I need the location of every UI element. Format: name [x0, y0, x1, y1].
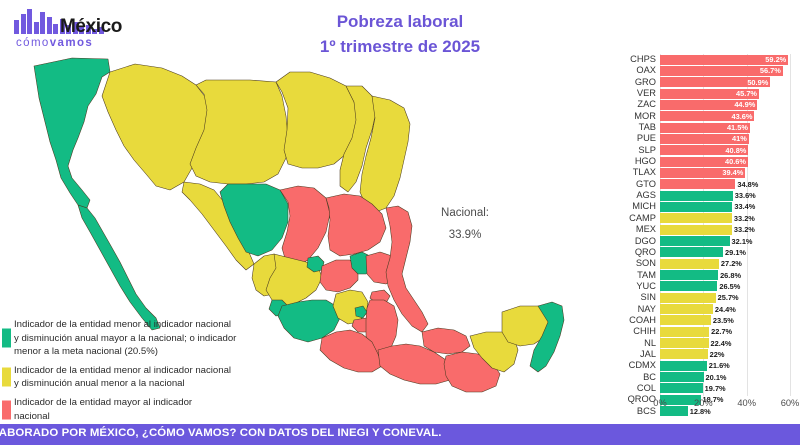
chart-category-label: AGS — [600, 190, 656, 201]
chart-category-label: TAB — [600, 122, 656, 133]
map-state-bcn[interactable] — [34, 58, 110, 208]
chart-bar-value: 27.2% — [721, 258, 742, 269]
national-label: Nacional: — [410, 203, 520, 225]
chart-category-label: DGO — [600, 236, 656, 247]
chart-bar[interactable] — [660, 259, 719, 269]
chart-bar-value: 40.6% — [725, 156, 746, 167]
chart-x-axis: 0%20%40%60% — [660, 398, 800, 414]
chart-bar-row[interactable]: GTO34.8% — [600, 179, 800, 190]
legend-item: Indicador de la entidad menor al indicad… — [0, 318, 250, 359]
chart-bar[interactable] — [660, 236, 730, 246]
chart-bar[interactable] — [660, 349, 708, 359]
legend-text-line: Indicador de la entidad mayor al indicad… — [14, 396, 250, 410]
chart-category-label: CAMP — [600, 213, 656, 224]
national-value: 33.9% — [410, 225, 520, 247]
chart-bar-row[interactable]: HGO40.6% — [600, 156, 800, 167]
legend-text-line: Indicador de la entidad menor al indicad… — [14, 364, 250, 378]
logo-bar — [14, 20, 19, 34]
chart-bar-row[interactable]: VER45.7% — [600, 88, 800, 99]
chart-bar-value: 34.8% — [737, 179, 758, 190]
chart-bar-row[interactable]: NAY24.4% — [600, 304, 800, 315]
chart-bar-value: 33.4% — [734, 201, 755, 212]
chart-bar[interactable] — [660, 304, 713, 314]
chart-bar-row[interactable]: PUE41% — [600, 133, 800, 144]
chart-bar-row[interactable]: NL22.4% — [600, 338, 800, 349]
chart-rows: CHPS59.2%OAX56.7%GRO50.9%VER45.7%ZAC44.9… — [600, 54, 800, 396]
chart-bar-row[interactable]: CHIH22.7% — [600, 326, 800, 337]
chart-category-label: SIN — [600, 292, 656, 303]
chart-bar[interactable] — [660, 372, 704, 382]
chart-bar-row[interactable]: YUC26.5% — [600, 281, 800, 292]
logo-subtitle-thin: cómo — [16, 37, 50, 49]
chart-category-label: QROO — [600, 394, 656, 405]
legend-text-line: menor a la meta nacional (20.5%) — [14, 345, 250, 359]
chart-bar-value: 23.5% — [713, 315, 734, 326]
chart-bar-row[interactable]: DGO32.1% — [600, 236, 800, 247]
chart-bar-value: 22% — [710, 349, 725, 360]
chart-bar-row[interactable]: MOR43.6% — [600, 111, 800, 122]
legend-item-text: Indicador de la entidad menor al indicad… — [14, 318, 250, 359]
chart-bar-row[interactable]: CAMP33.2% — [600, 213, 800, 224]
chart-bar-value: 40.8% — [725, 145, 746, 156]
chart-category-label: BC — [600, 372, 656, 383]
legend-text-line: nacional — [14, 410, 250, 424]
chart-category-label: NL — [600, 338, 656, 349]
chart-category-label: VER — [600, 88, 656, 99]
chart-bar[interactable] — [660, 361, 707, 371]
logo-bar — [21, 14, 26, 34]
map-state-chih[interactable] — [190, 80, 288, 184]
chart-x-tick-label: 60% — [781, 398, 800, 408]
chart-bar-value: 44.9% — [734, 99, 755, 110]
logo-bar — [53, 24, 58, 34]
chart-category-label: SON — [600, 258, 656, 269]
legend-item-text: Indicador de la entidad menor al indicad… — [14, 364, 250, 391]
chart-bar-value: 24.4% — [715, 304, 736, 315]
chart-category-label: OAX — [600, 65, 656, 76]
chart-bar-row[interactable]: COAH23.5% — [600, 315, 800, 326]
chart-category-label: GRO — [600, 77, 656, 88]
chart-bar[interactable] — [660, 191, 733, 201]
chart-bar-value: 41% — [732, 133, 747, 144]
chart-bar-row[interactable]: CDMX21.6% — [600, 360, 800, 371]
footer-credit-text: ELABORADO POR MÉXICO, ¿CÓMO VAMOS? CON D… — [0, 427, 442, 439]
chart-bar-row[interactable]: ZAC44.9% — [600, 99, 800, 110]
logo-bar — [47, 17, 52, 34]
chart-bar-value: 59.2% — [765, 54, 786, 65]
chart-bar[interactable] — [660, 213, 732, 223]
chart-bar-value: 21.6% — [709, 360, 730, 371]
chart-bar-row[interactable]: AGS33.6% — [600, 190, 800, 201]
chart-bar[interactable] — [660, 225, 732, 235]
map-state-son[interactable] — [102, 64, 208, 190]
chart-x-tick-label: 20% — [694, 398, 713, 408]
chart-bar-row[interactable]: MEX33.2% — [600, 224, 800, 235]
logo-subtitle-bold: vamos — [50, 37, 93, 49]
national-figure: Nacional: 33.9% — [410, 203, 520, 247]
chart-bar-value: 33.2% — [734, 213, 755, 224]
chart-bar-value: 26.8% — [720, 270, 741, 281]
map-state-bcs[interactable] — [78, 205, 160, 330]
chart-bar-value: 19.7% — [705, 383, 726, 394]
chart-bar-value: 33.2% — [734, 224, 755, 235]
legend-text-line: Indicador de la entidad menor al indicad… — [14, 318, 250, 332]
chart-category-label: YUC — [600, 281, 656, 292]
chart-category-label: QRO — [600, 247, 656, 258]
infographic-root: México cómovamos Pobreza laboral 1º trim… — [0, 0, 800, 445]
logo-bar — [40, 12, 45, 34]
chart-category-label: JAL — [600, 349, 656, 360]
chart-bar-value: 26.5% — [719, 281, 740, 292]
chart-bar[interactable] — [660, 338, 709, 348]
chart-bar-value: 32.1% — [732, 236, 753, 247]
logo-bar — [34, 22, 39, 34]
chart-category-label: COAH — [600, 315, 656, 326]
chart-bar[interactable] — [660, 247, 723, 257]
chart-category-label: CDMX — [600, 360, 656, 371]
legend-item: Indicador de la entidad mayor al indicad… — [0, 396, 250, 423]
legend-color-swatch — [2, 329, 11, 348]
chart-bar-value: 22.7% — [711, 326, 732, 337]
legend-item: Indicador de la entidad menor al indicad… — [0, 364, 250, 391]
chart-category-label: MICH — [600, 201, 656, 212]
chart-bar-value: 20.1% — [706, 372, 727, 383]
logo-subtitle: cómovamos — [16, 37, 93, 49]
chart-bar[interactable] — [660, 293, 716, 303]
chart-category-label: PUE — [600, 133, 656, 144]
state-bar-chart: CHPS59.2%OAX56.7%GRO50.9%VER45.7%ZAC44.9… — [600, 54, 800, 414]
chart-bar-value: 56.7% — [760, 65, 781, 76]
chart-bar-value: 29.1% — [725, 247, 746, 258]
chart-bar-row[interactable]: SIN25.7% — [600, 292, 800, 303]
chart-bar-value: 33.6% — [735, 190, 756, 201]
chart-category-label: TAM — [600, 270, 656, 281]
chart-category-label: BCS — [600, 406, 656, 417]
chart-category-label: MEX — [600, 224, 656, 235]
chart-bar-value: 25.7% — [718, 292, 739, 303]
chart-category-label: NAY — [600, 304, 656, 315]
title-line-1: Pobreza laboral — [270, 10, 530, 35]
chart-bar-row[interactable]: GRO50.9% — [600, 77, 800, 88]
chart-category-label: MOR — [600, 111, 656, 122]
map-legend: Indicador de la entidad menor al indicad… — [0, 318, 250, 428]
logo-bar — [27, 9, 32, 34]
chart-bar-row[interactable]: TAM26.8% — [600, 270, 800, 281]
chart-bar-row[interactable]: QRO29.1% — [600, 247, 800, 258]
legend-color-swatch — [2, 400, 11, 419]
footer-banner: ELABORADO POR MÉXICO, ¿CÓMO VAMOS? CON D… — [0, 424, 800, 445]
chart-bar-row[interactable]: TLAX39.4% — [600, 167, 800, 178]
chart-category-label: CHIH — [600, 326, 656, 337]
chart-bar-value: 39.4% — [722, 167, 743, 178]
chart-category-label: CHPS — [600, 54, 656, 65]
chart-bar[interactable] — [660, 179, 735, 189]
chart-bar-value: 45.7% — [736, 88, 757, 99]
chart-bar[interactable] — [660, 315, 711, 325]
chart-bar[interactable] — [660, 327, 709, 337]
chart-x-tick-label: 40% — [737, 398, 756, 408]
chart-bar[interactable] — [660, 383, 703, 393]
chart-bar-value: 50.9% — [747, 77, 768, 88]
chart-bar-row[interactable]: JAL22% — [600, 349, 800, 360]
legend-text-line: y disminución anual menor a la nacional — [14, 377, 250, 391]
legend-text-line: y disminución anual mayor a la nacional;… — [14, 332, 250, 346]
legend-color-swatch — [2, 368, 11, 387]
chart-bar[interactable] — [660, 281, 717, 291]
chart-category-label: HGO — [600, 156, 656, 167]
chart-category-label: COL — [600, 383, 656, 394]
chart-bar-row[interactable]: OAX56.7% — [600, 65, 800, 76]
chart-bar-row[interactable]: BC20.1% — [600, 372, 800, 383]
chart-bar-row[interactable]: SON27.2% — [600, 258, 800, 269]
chart-category-label: SLP — [600, 145, 656, 156]
legend-item-text: Indicador de la entidad mayor al indicad… — [14, 396, 250, 423]
chart-x-tick-label: 0% — [653, 398, 666, 408]
chart-category-label: TLAX — [600, 167, 656, 178]
chart-bar-row[interactable]: TAB41.5% — [600, 122, 800, 133]
chart-bar-value: 41.5% — [727, 122, 748, 133]
chart-bar-row[interactable]: CHPS59.2% — [600, 54, 800, 65]
chart-bar-value: 22.4% — [711, 338, 732, 349]
chart-bar-row[interactable]: COL19.7% — [600, 383, 800, 394]
logo-mexico-como-vamos: México cómovamos — [14, 8, 144, 52]
chart-bar-row[interactable]: MICH33.4% — [600, 201, 800, 212]
chart-bar[interactable] — [660, 202, 732, 212]
chart-bar[interactable] — [660, 270, 718, 280]
chart-category-label: GTO — [600, 179, 656, 190]
chart-bar-row[interactable]: SLP40.8% — [600, 145, 800, 156]
chart-category-label: ZAC — [600, 99, 656, 110]
map-state-zac[interactable] — [280, 186, 330, 266]
logo-wordmark: México — [60, 16, 122, 38]
chart-bar-value: 43.6% — [731, 111, 752, 122]
